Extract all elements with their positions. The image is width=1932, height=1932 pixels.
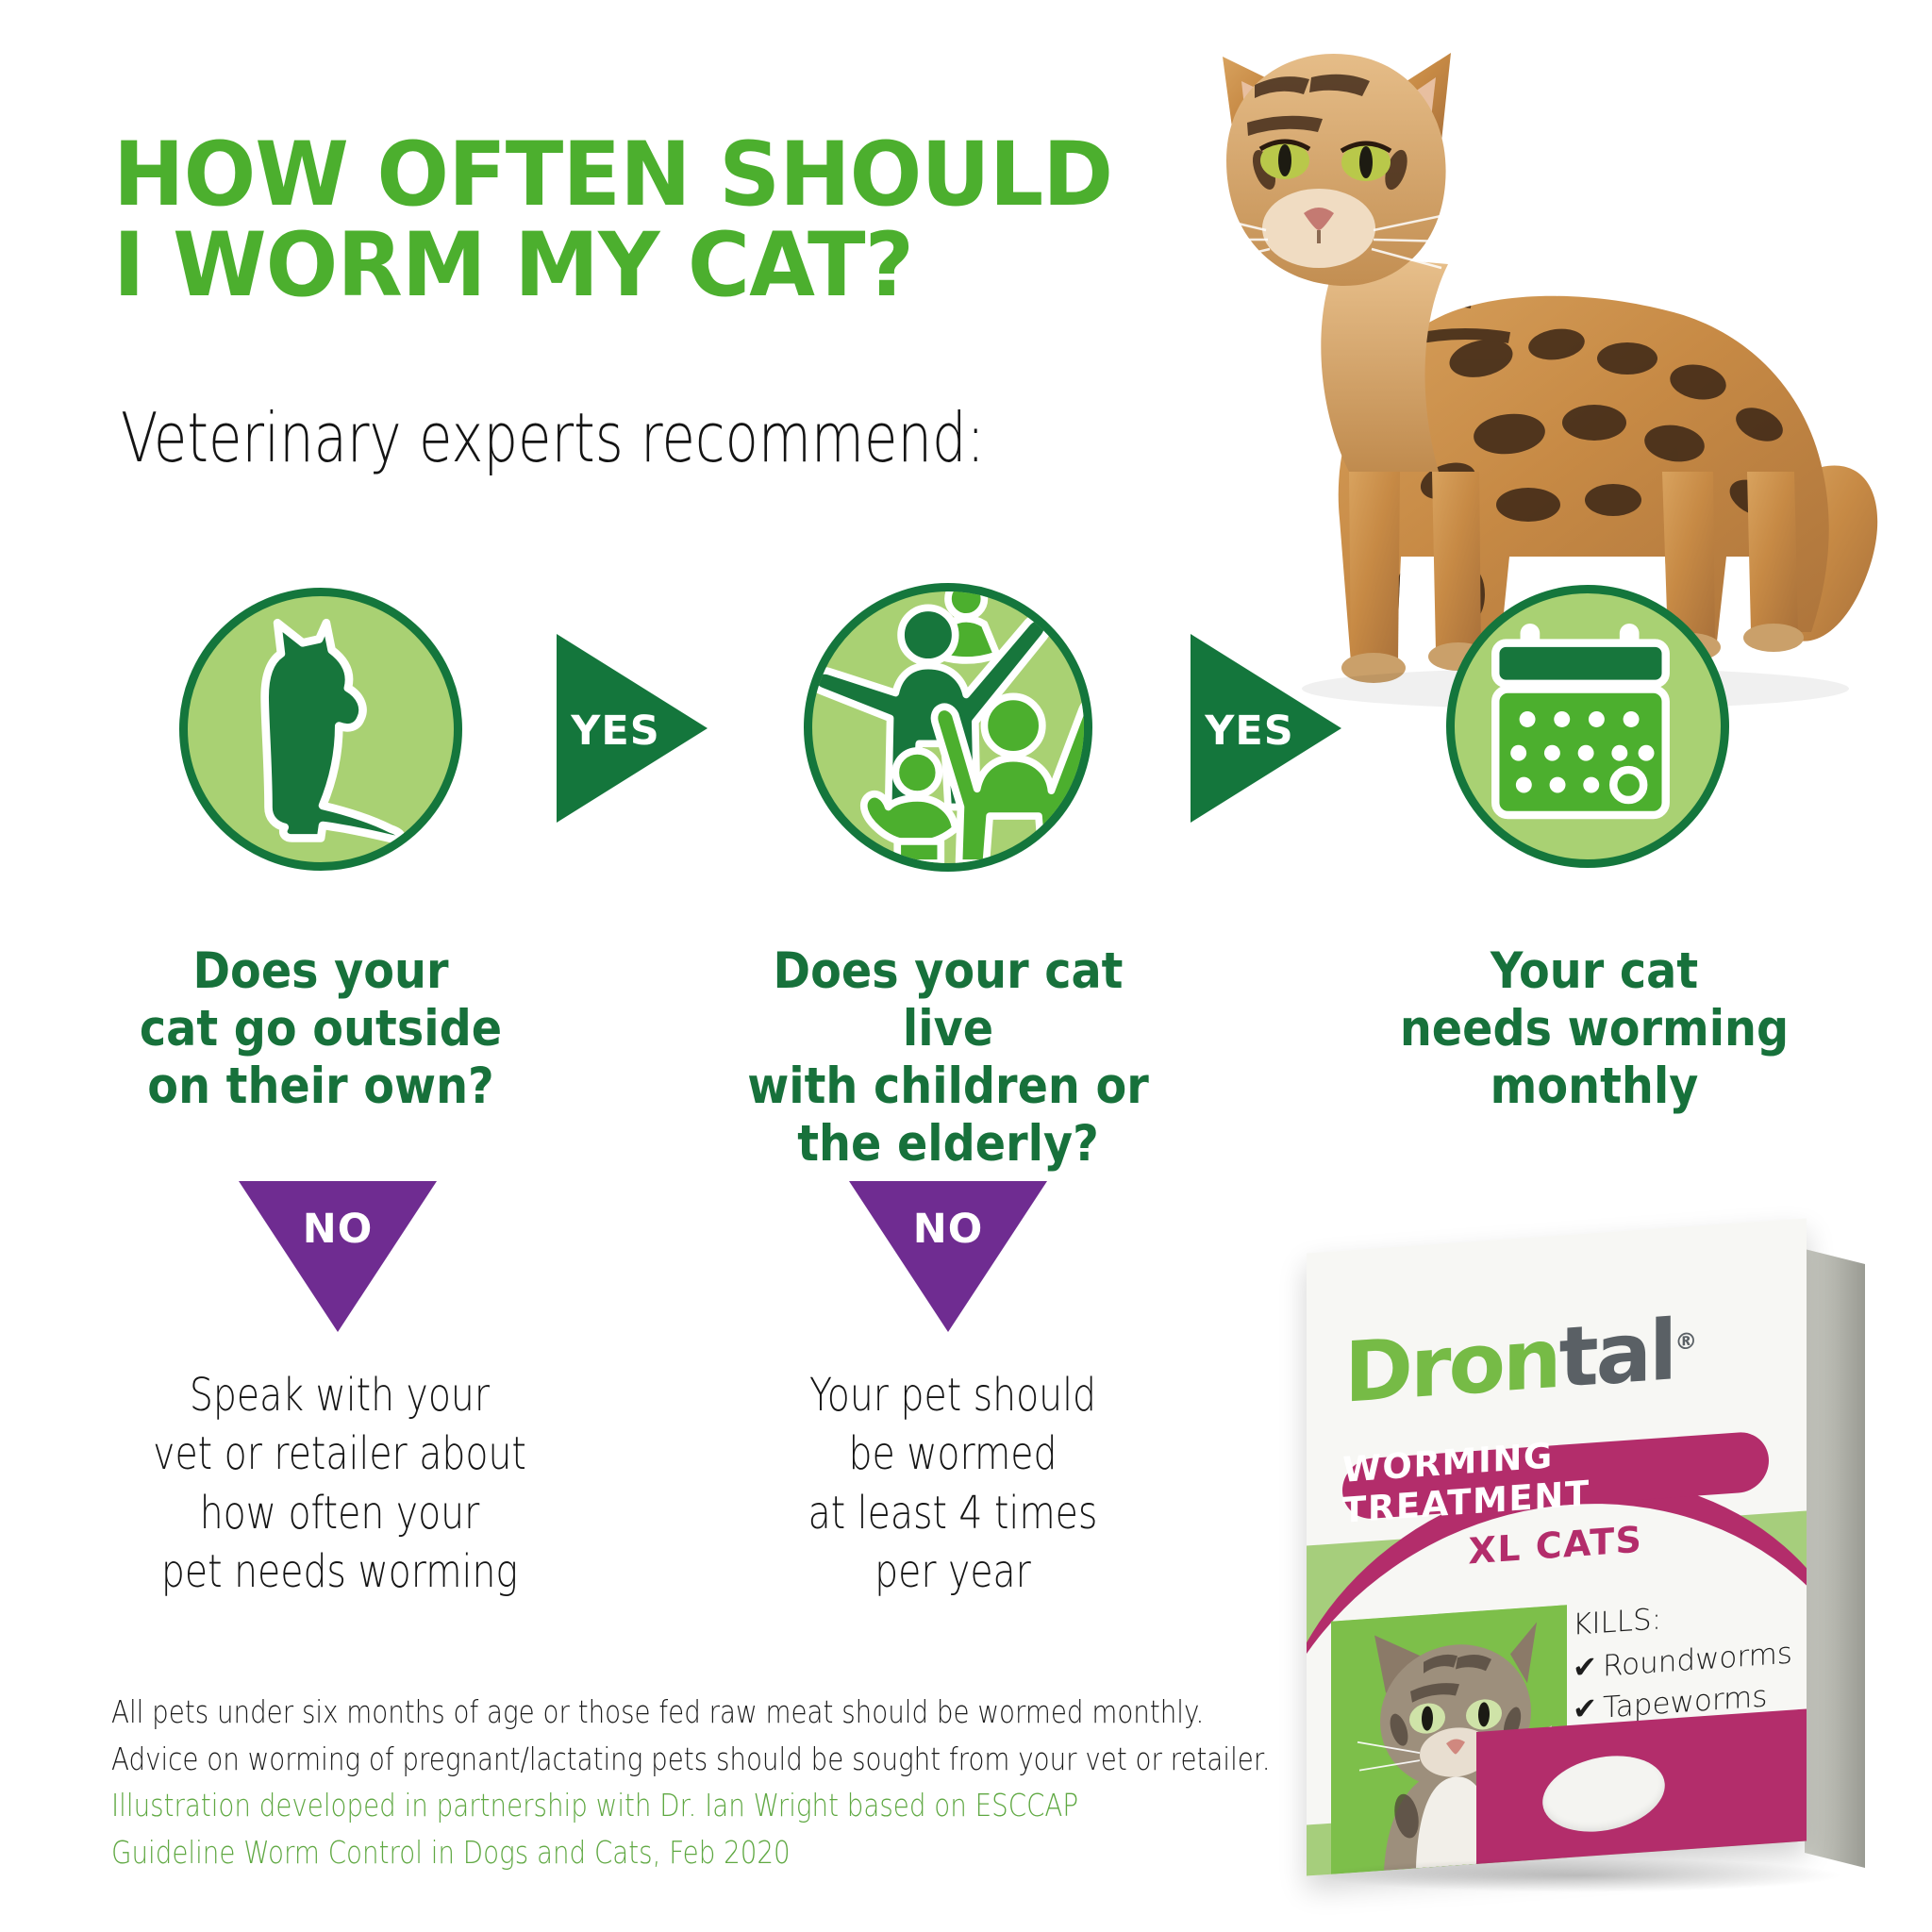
heading-line: cat go outside bbox=[134, 1001, 508, 1058]
outcome-line: vet or retailer about bbox=[115, 1424, 564, 1483]
no-arrow-1: NO bbox=[239, 1181, 437, 1332]
page-title: HOW OFTEN SHOULD I WORM MY CAT? bbox=[113, 130, 1145, 311]
check-icon: ✔ bbox=[1573, 1650, 1597, 1686]
heading-line: Does your bbox=[134, 943, 508, 1001]
cat-silhouette-icon bbox=[179, 588, 462, 871]
pack-side-panel bbox=[1805, 1249, 1865, 1868]
headline-line-2: I WORM MY CAT? bbox=[113, 221, 1145, 311]
arrow-triangle bbox=[239, 1181, 437, 1332]
family-people-icon bbox=[804, 583, 1092, 872]
headline-line-1: HOW OFTEN SHOULD bbox=[113, 130, 1145, 221]
trademark-symbol: ® bbox=[1674, 1327, 1694, 1355]
outcome-line: per year bbox=[744, 1542, 1162, 1601]
yes-label: YES bbox=[1200, 708, 1299, 755]
arrow-triangle bbox=[849, 1181, 1047, 1332]
heading-line: the elderly? bbox=[724, 1116, 1174, 1174]
heading-line: with children or bbox=[724, 1058, 1174, 1116]
pack-shadow bbox=[1316, 1858, 1844, 1892]
no-label: NO bbox=[849, 1206, 1047, 1253]
pack-front-face: Drontal® WORMING TREATMENT XL CATS bbox=[1307, 1218, 1807, 1875]
heading-line: on their own? bbox=[134, 1058, 508, 1116]
step-1-heading: Does your cat go outside on their own? bbox=[134, 943, 508, 1116]
footnote-line: Illustration developed in partnership wi… bbox=[111, 1782, 1046, 1829]
heading-line: Does your cat live bbox=[724, 943, 1174, 1058]
infographic-canvas: HOW OFTEN SHOULD I WORM MY CAT? Veterina… bbox=[0, 0, 1932, 1932]
outcome-line: Your pet should bbox=[744, 1366, 1162, 1424]
no-label: NO bbox=[239, 1206, 437, 1253]
subheading: Veterinary experts recommend: bbox=[121, 398, 985, 477]
footnote-line: Advice on worming of pregnant/lactating … bbox=[111, 1736, 1046, 1783]
footnote: All pets under six months of age or thos… bbox=[111, 1689, 1046, 1875]
outcome-line: how often your bbox=[115, 1484, 564, 1542]
outcome-text-1: Speak with your vet or retailer about ho… bbox=[115, 1366, 564, 1602]
drontal-product-pack: Drontal® WORMING TREATMENT XL CATS bbox=[1307, 1207, 1891, 1887]
step-2-heading: Does your cat live with children or the … bbox=[724, 943, 1174, 1174]
brand-part-1: Dron bbox=[1344, 1309, 1559, 1422]
footnote-line: All pets under six months of age or thos… bbox=[111, 1689, 1046, 1736]
no-arrow-2: NO bbox=[849, 1181, 1047, 1332]
heading-line: monthly bbox=[1382, 1058, 1807, 1116]
kills-list: KILLS: ✔Roundworms ✔Tapeworms bbox=[1573, 1590, 1790, 1731]
heading-line: Your cat bbox=[1382, 943, 1807, 1001]
yes-arrow-1: YES bbox=[557, 634, 708, 823]
heading-line: needs worming bbox=[1382, 1001, 1807, 1058]
drontal-logo: Drontal® bbox=[1344, 1293, 1788, 1422]
outcome-line: pet needs worming bbox=[115, 1542, 564, 1601]
yes-label: YES bbox=[566, 708, 665, 755]
brand-part-2: tal bbox=[1559, 1301, 1675, 1407]
footnote-line: Guideline Worm Control in Dogs and Cats,… bbox=[111, 1829, 1046, 1876]
outcome-line: be wormed bbox=[744, 1424, 1162, 1483]
outcome-line: Speak with your bbox=[115, 1366, 564, 1424]
check-icon: ✔ bbox=[1573, 1691, 1597, 1727]
calendar-icon bbox=[1446, 585, 1729, 868]
outcome-line: at least 4 times bbox=[744, 1484, 1162, 1542]
outcome-text-2: Your pet should be wormed at least 4 tim… bbox=[744, 1366, 1162, 1602]
step-3-heading: Your cat needs worming monthly bbox=[1382, 943, 1807, 1116]
yes-arrow-2: YES bbox=[1191, 634, 1341, 823]
